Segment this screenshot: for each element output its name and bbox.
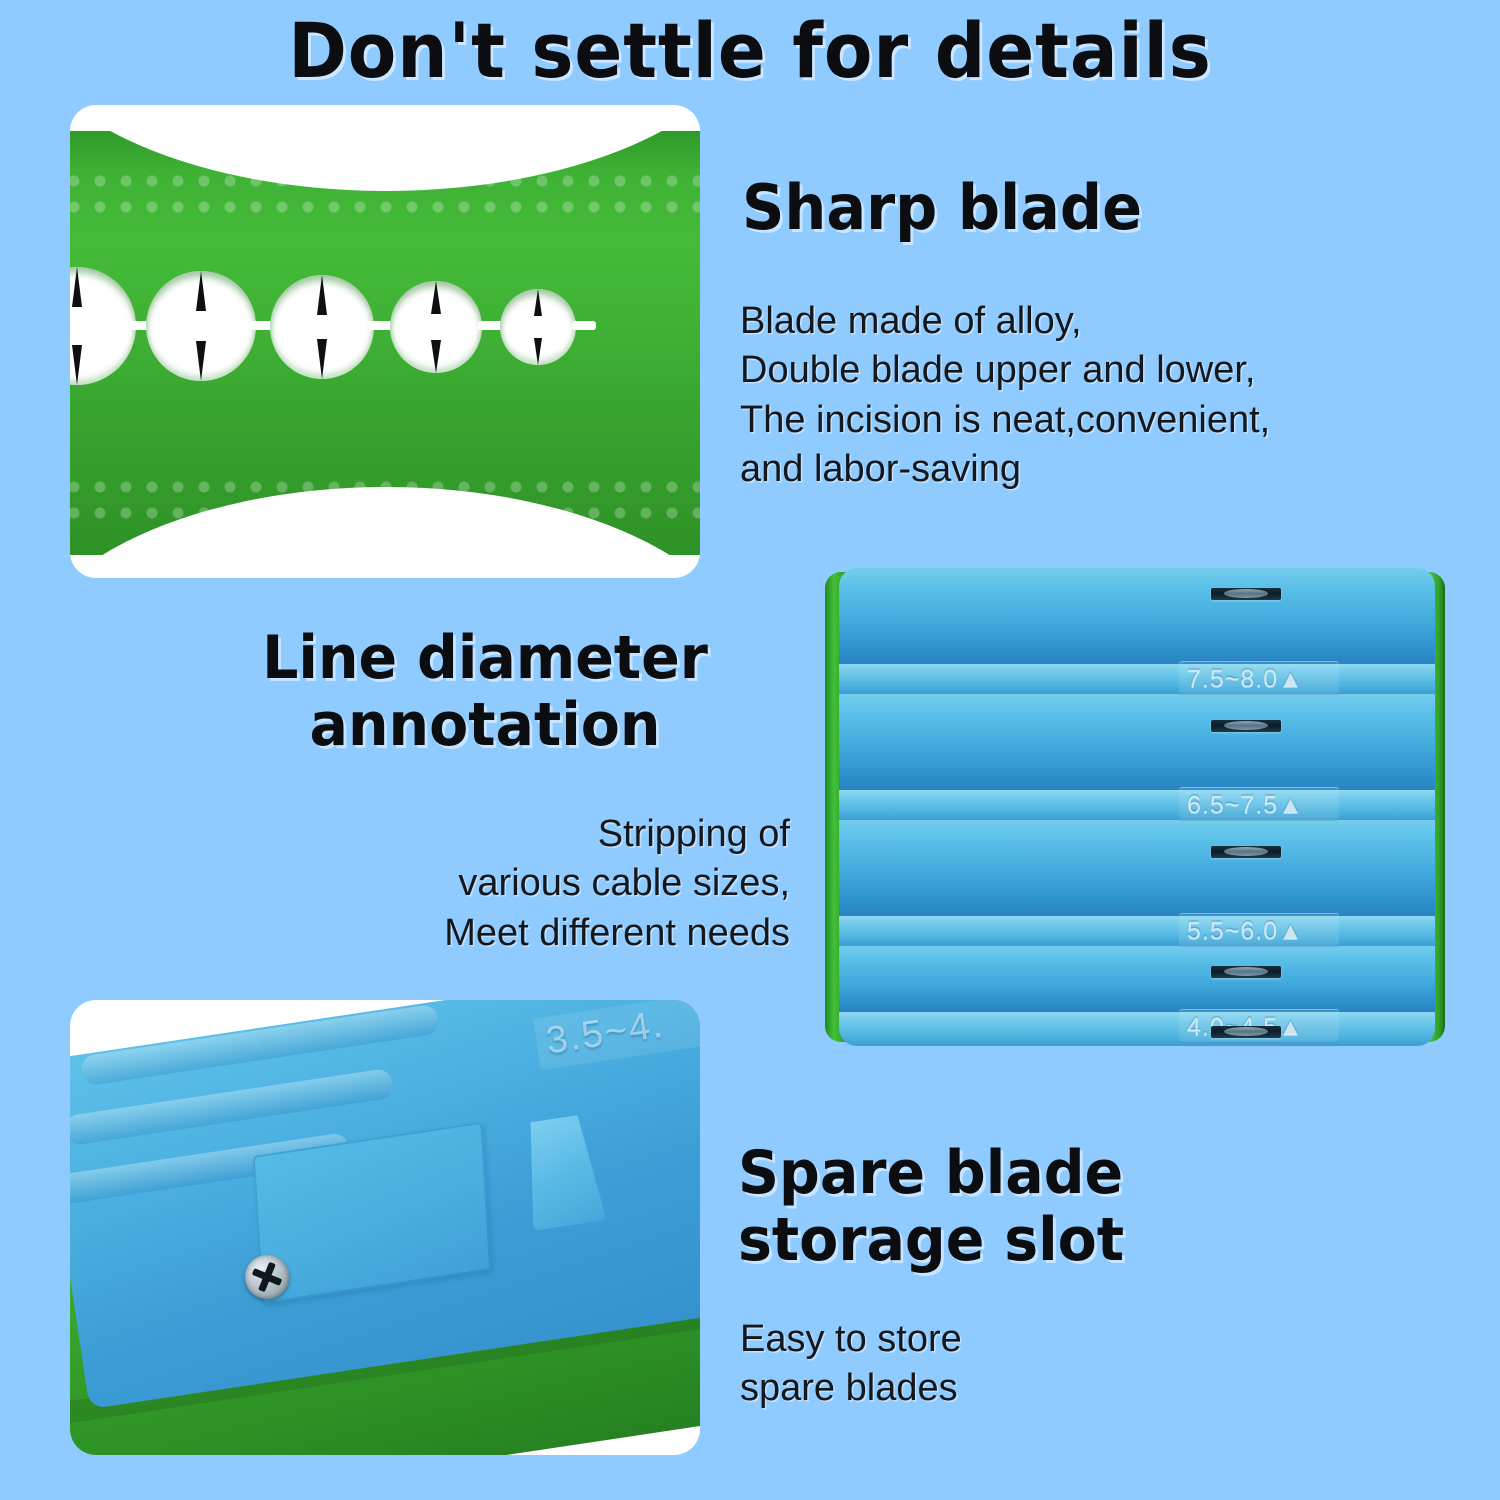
body-sharp-blade: Blade made of alloy, Double blade upper … <box>740 297 1500 495</box>
blade-point-icon <box>317 339 327 379</box>
size-label-7-5-8-0: 7.5~8.0▲ <box>1187 665 1304 694</box>
blade-slot <box>1211 1026 1281 1038</box>
ridge-segment <box>839 946 1435 1012</box>
blade-point-icon <box>431 340 441 373</box>
ridge-segment <box>839 790 1435 820</box>
size-label-5-5-6-0: 5.5~6.0▲ <box>1187 917 1304 946</box>
size-label-6-5-7-5: 6.5~7.5▲ <box>1187 791 1304 820</box>
stripping-hole <box>390 281 482 373</box>
hole-connector <box>572 321 596 330</box>
stripping-hole <box>70 267 136 385</box>
body-spare-blade: Easy to store spare blades <box>740 1315 1440 1414</box>
blade-slot <box>1211 966 1281 978</box>
blade-slot <box>1211 846 1281 858</box>
photo-green-wire-stripper <box>70 105 700 578</box>
green-top-wave-edge <box>70 131 700 201</box>
blue-ridged-body: 7.5~8.0▲ 6.5~7.5▲ 5.5~6.0▲ 4.0~4.5▲ <box>839 568 1435 1046</box>
photo-blue-size-annotations: 7.5~8.0▲ 6.5~7.5▲ 5.5~6.0▲ 4.0~4.5▲ <box>825 568 1445 1046</box>
blade-point-icon <box>196 271 206 311</box>
ridge-segment <box>839 568 1435 664</box>
heading-sharp-blade: Sharp blade <box>742 173 1142 242</box>
storage-slot-scene: 3.5~4. <box>70 1000 700 1455</box>
ridge-segment <box>839 820 1435 916</box>
blade-point-icon <box>196 341 206 381</box>
stripping-hole <box>500 289 576 365</box>
blade-point-icon <box>534 338 542 365</box>
phillips-screw-icon <box>245 1255 289 1299</box>
ridge-segment <box>839 664 1435 694</box>
green-bottom-wave-edge <box>70 477 700 557</box>
ridge-segment <box>839 694 1435 790</box>
blade-slot <box>1211 720 1281 732</box>
heading-spare-blade: Spare blade storage slot <box>738 1140 1124 1274</box>
body-line-diameter: Stripping of various cable sizes, Meet d… <box>180 810 790 958</box>
green-tool-body <box>70 131 700 555</box>
page-title: Don't settle for details <box>53 6 1448 95</box>
photo-spare-blade-storage-slot: 3.5~4. <box>70 1000 700 1455</box>
stripping-hole <box>146 271 256 381</box>
blade-point-icon <box>431 281 441 314</box>
blade-slot <box>1211 588 1281 600</box>
infographic-canvas: Don't settle for details <box>0 0 1500 1500</box>
blade-point-icon <box>534 289 542 316</box>
blade-point-icon <box>72 345 82 385</box>
blade-point-icon <box>317 275 327 315</box>
blade-point-icon <box>72 267 82 307</box>
heading-line-diameter: Line diameter annotation <box>191 625 780 759</box>
stripping-hole <box>270 275 374 379</box>
ridge-segment <box>839 1012 1435 1046</box>
ridge-segment <box>839 916 1435 946</box>
